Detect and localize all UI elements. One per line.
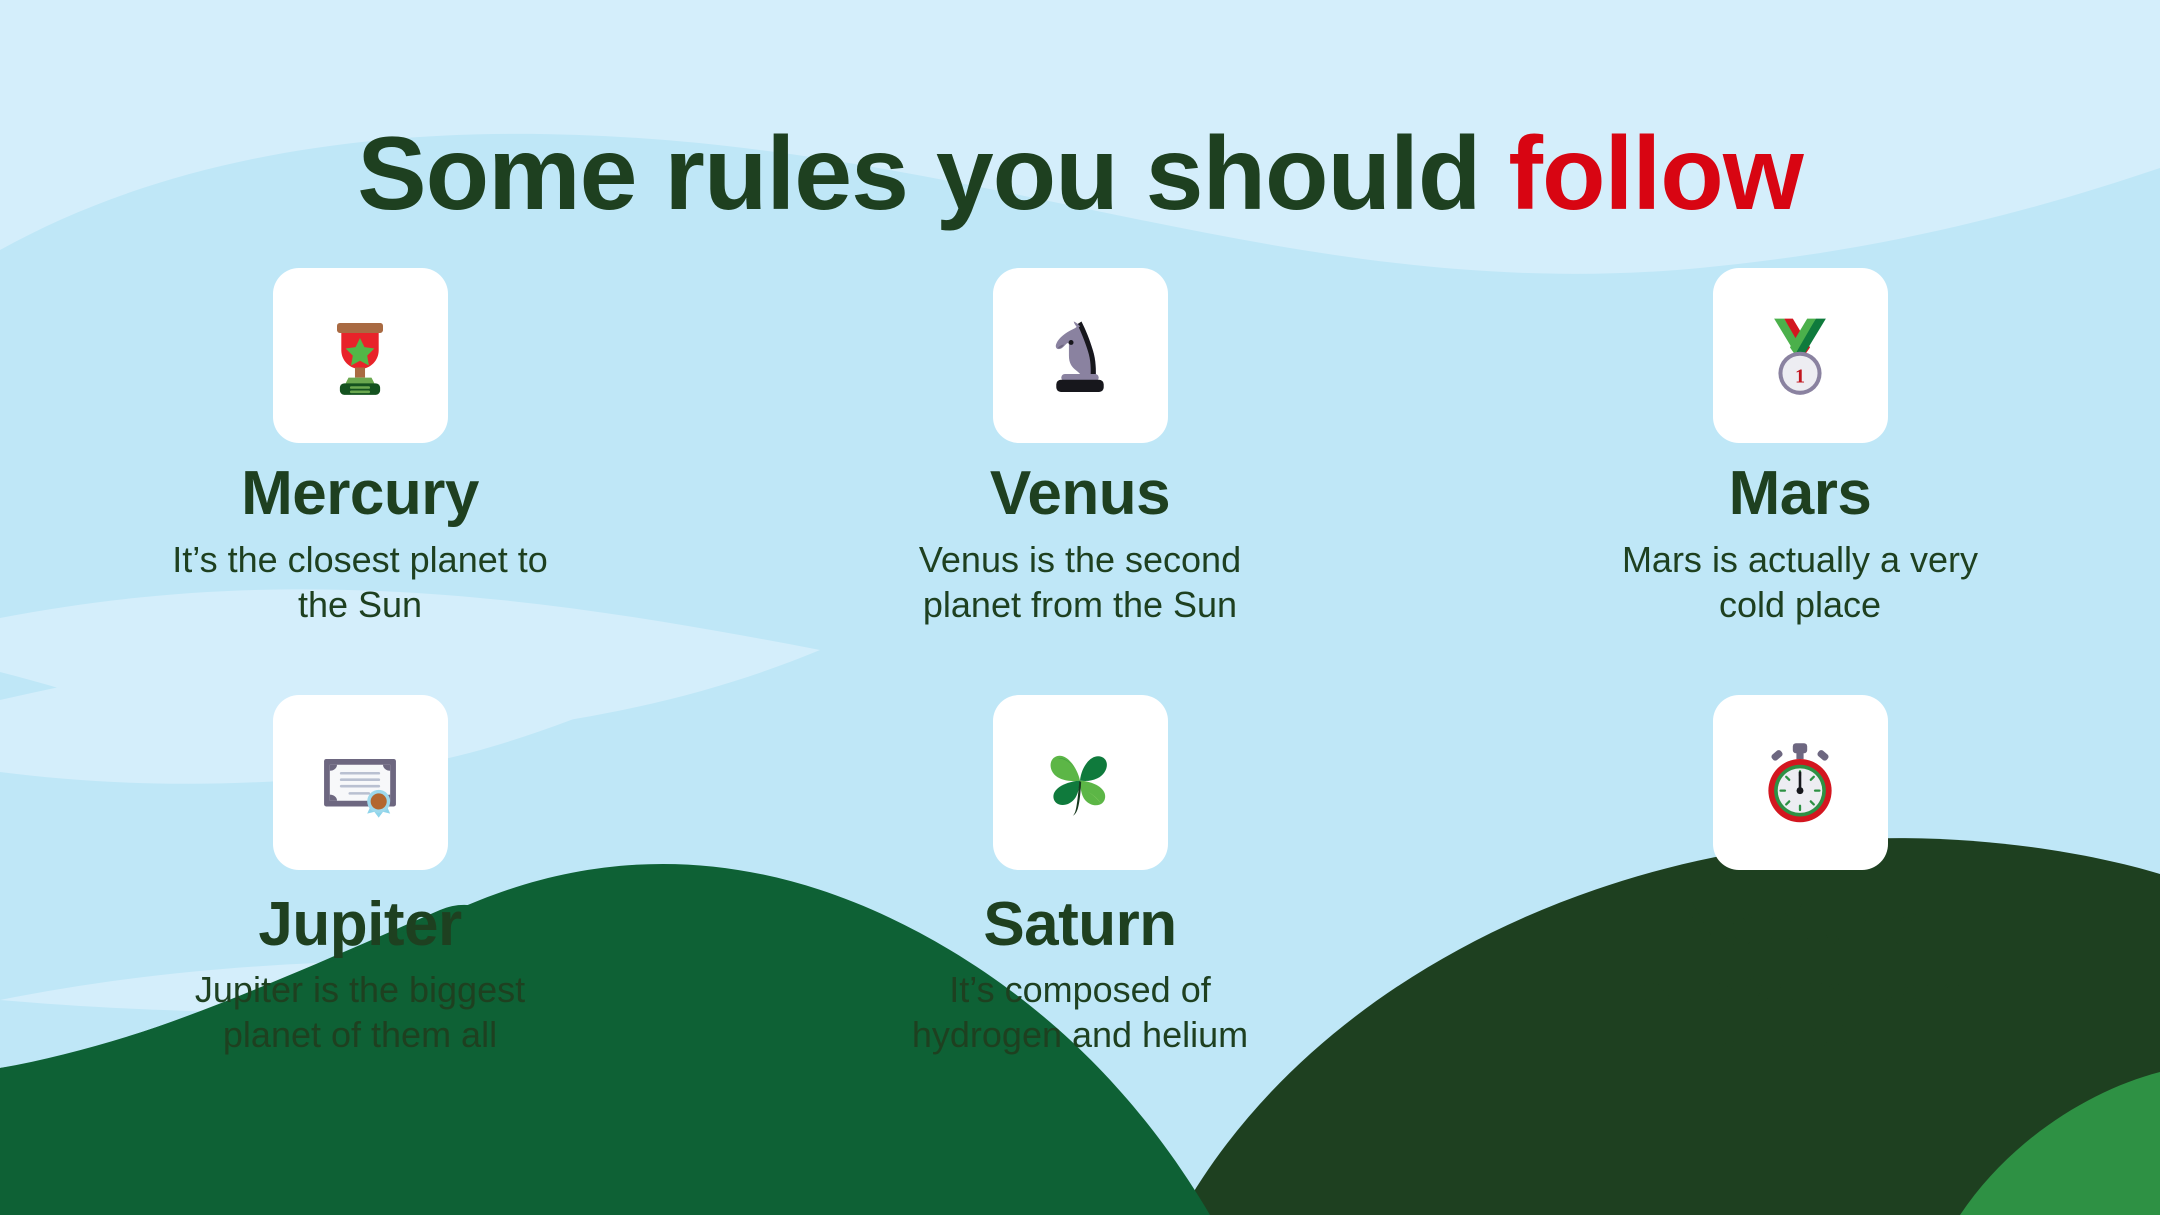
feature-card-mars[interactable]: 1 Mars Mars is actually a very cold plac…: [1440, 268, 2160, 627]
icon-tile: [273, 268, 448, 443]
stopwatch-icon: [1754, 736, 1846, 828]
chess-knight-icon: [1034, 310, 1126, 402]
first-place-medal-icon: 1: [1754, 310, 1846, 402]
card-title: Neptune: [1678, 892, 1923, 958]
title-block: Some rules you should follow: [0, 120, 2160, 229]
trophy-icon: [314, 310, 406, 402]
card-description: It’s composed of hydrogen and helium: [912, 967, 1248, 1057]
card-description: Venus is the second planet from the Sun: [919, 537, 1241, 627]
icon-tile: [993, 695, 1168, 870]
feature-card-jupiter[interactable]: Jupiter Jupiter is the biggest planet of…: [0, 695, 720, 1058]
feature-card-neptune[interactable]: Neptune It’s the farthest planet from th…: [1440, 695, 2160, 1058]
card-title: Mars: [1729, 461, 1872, 527]
certificate-icon: [314, 736, 406, 828]
card-description: Jupiter is the biggest planet of them al…: [195, 967, 525, 1057]
feature-card-mercury[interactable]: Mercury It’s the closest planet to the S…: [0, 268, 720, 627]
card-description: Mars is actually a very cold place: [1622, 537, 1978, 627]
feature-row-2: Jupiter Jupiter is the biggest planet of…: [0, 695, 2160, 1058]
title-accent-text: follow: [1508, 116, 1802, 232]
slide-title: Some rules you should follow: [0, 120, 2160, 229]
card-title: Mercury: [241, 461, 479, 527]
feature-row-1: Mercury It’s the closest planet to the S…: [0, 268, 2160, 627]
title-primary-text: Some rules you should: [357, 116, 1480, 232]
card-title: Jupiter: [258, 892, 461, 958]
icon-tile: [1713, 695, 1888, 870]
icon-tile: [273, 695, 448, 870]
svg-text:1: 1: [1795, 365, 1805, 387]
feature-card-venus[interactable]: Venus Venus is the second planet from th…: [720, 268, 1440, 627]
four-leaf-clover-icon: [1034, 736, 1126, 828]
card-title: Venus: [990, 461, 1170, 527]
card-description: It’s the closest planet to the Sun: [172, 537, 548, 627]
slide-canvas: Some rules you should follow: [0, 0, 2160, 1215]
feature-grid: Mercury It’s the closest planet to the S…: [0, 268, 2160, 1057]
feature-card-saturn[interactable]: Saturn It’s composed of hydrogen and hel…: [720, 695, 1440, 1058]
icon-tile: 1: [1713, 268, 1888, 443]
card-title: Saturn: [983, 892, 1176, 958]
icon-tile: [993, 268, 1168, 443]
card-description: It’s the farthest planet from the Sun: [1628, 967, 1972, 1057]
